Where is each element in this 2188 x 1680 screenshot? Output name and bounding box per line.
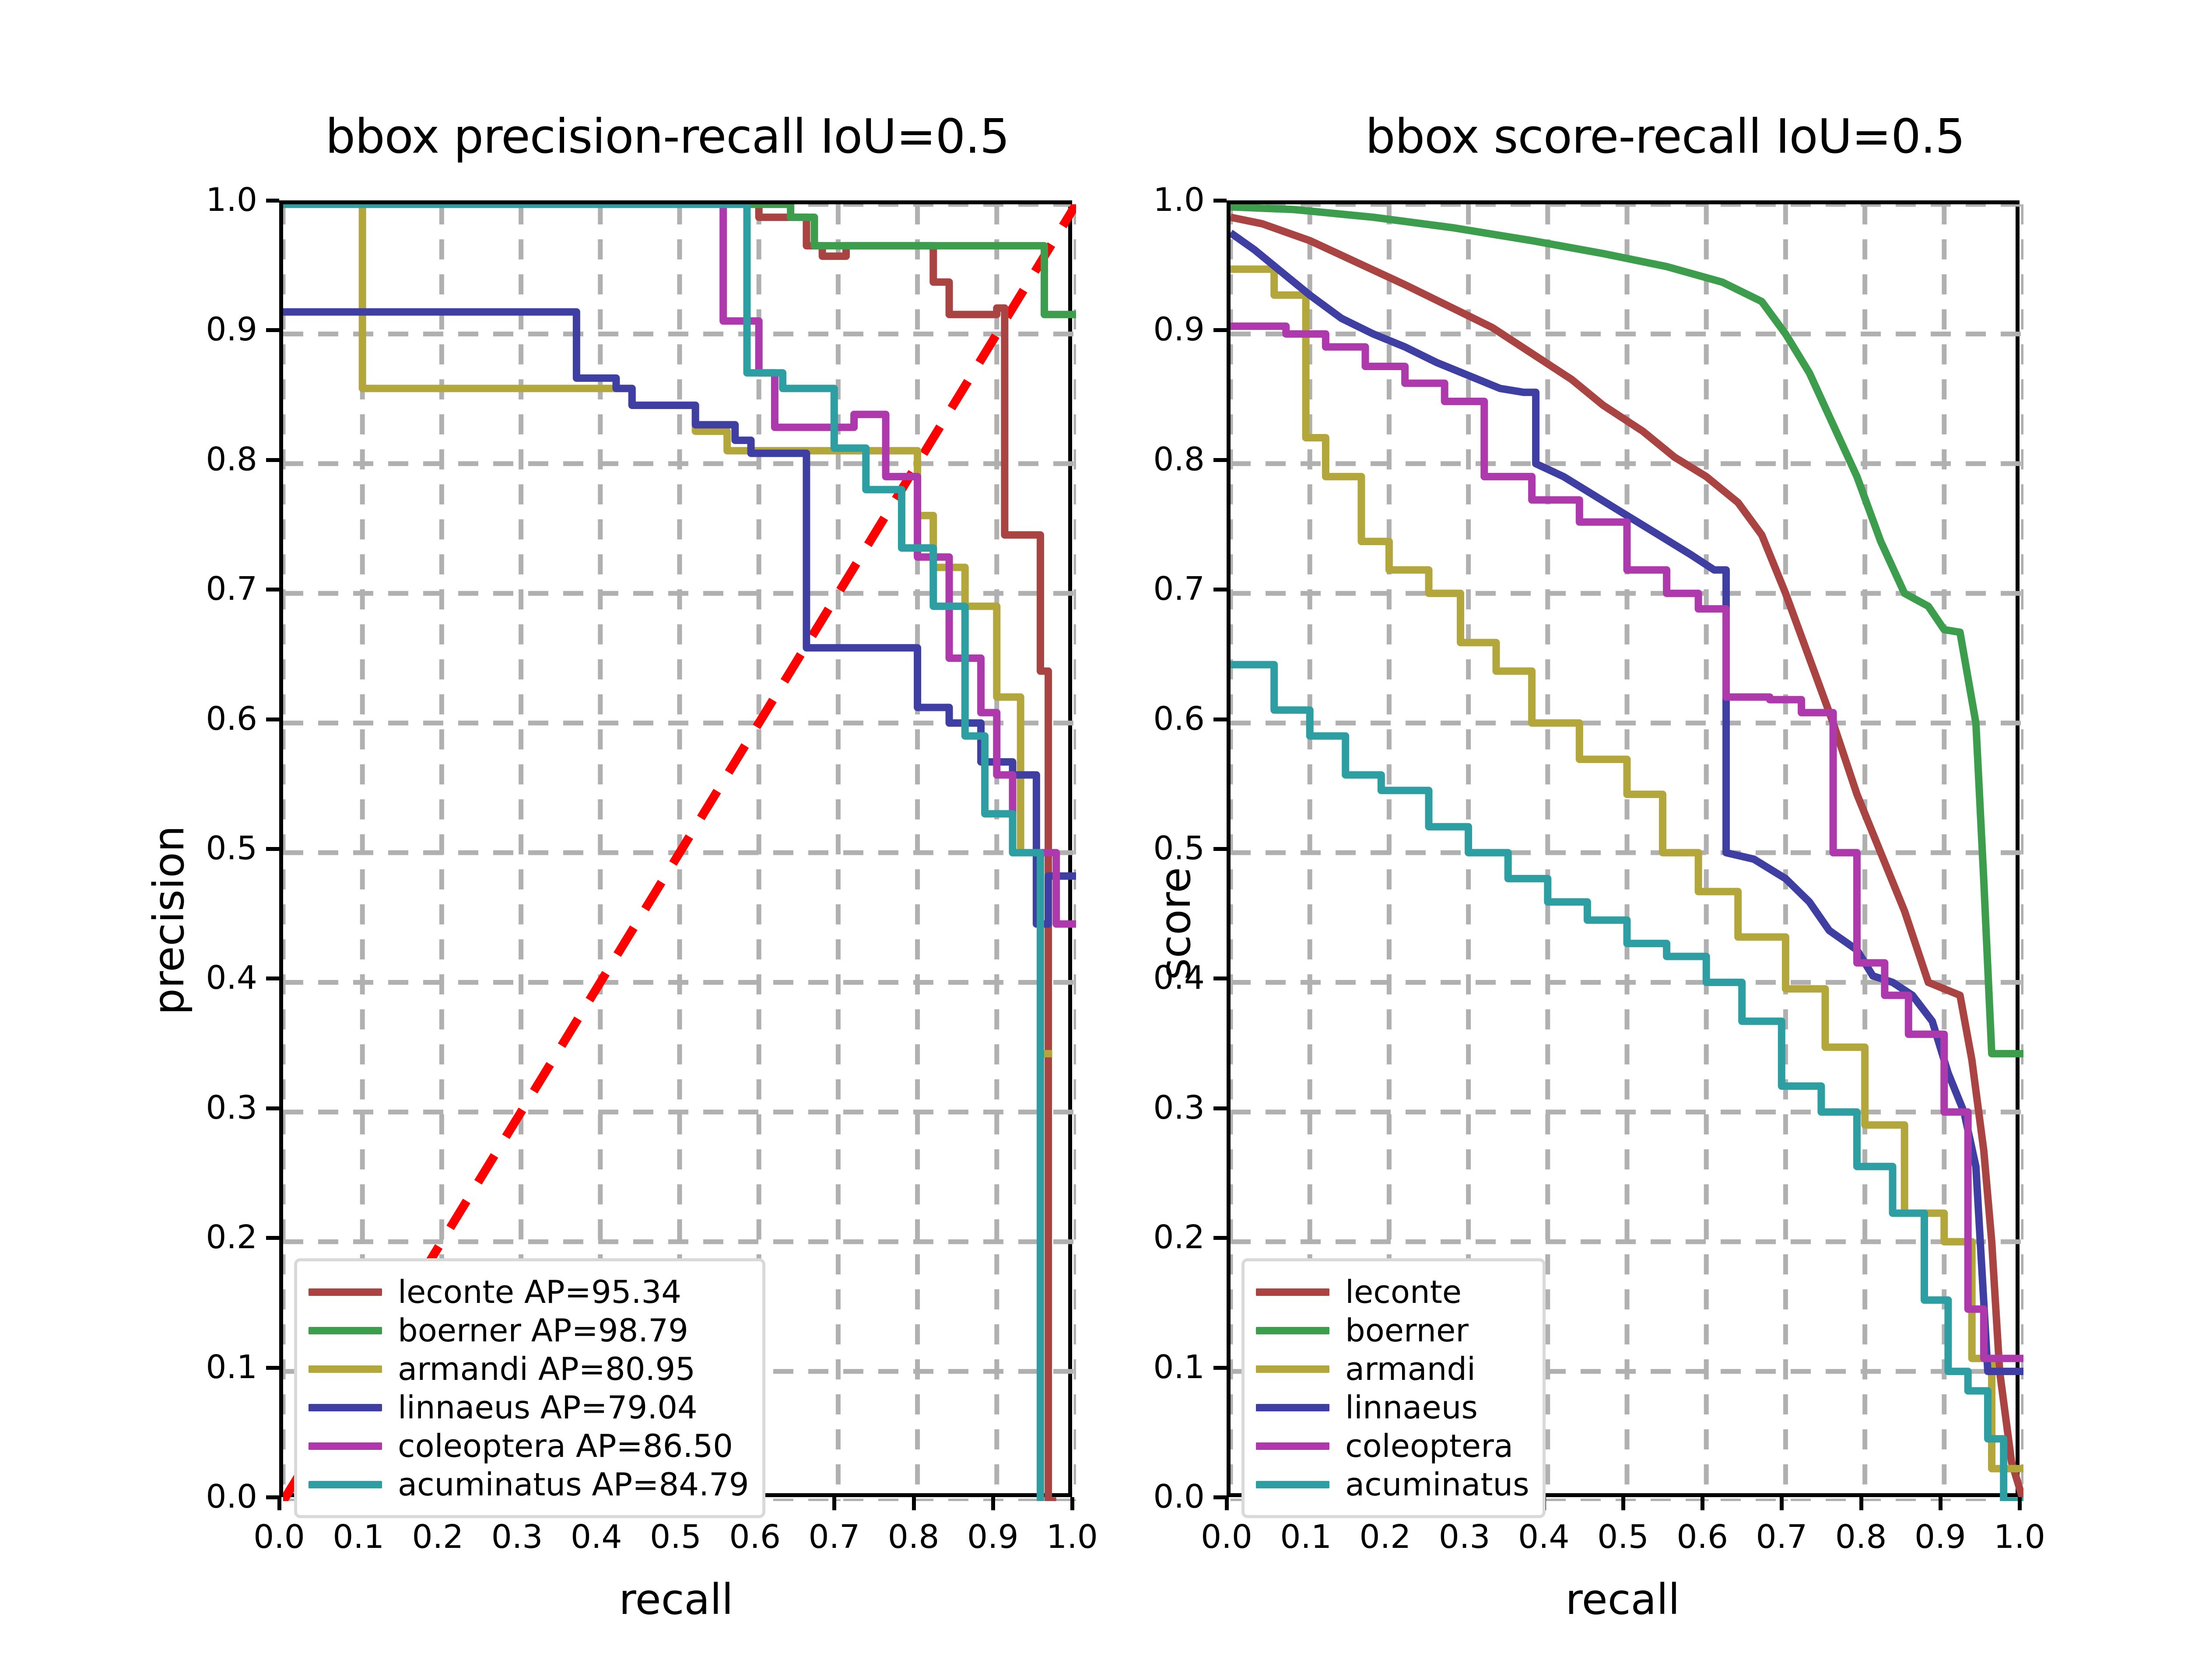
legend-item-label: linnaeus xyxy=(1345,1389,1478,1426)
legend-item-boerner[interactable]: boerner xyxy=(1256,1311,1529,1350)
y-tick-label: 0.0 xyxy=(1095,1478,1205,1515)
legend-item-label: armandi AP=80.95 xyxy=(398,1351,695,1387)
panel-right-title: bbox score-recall IoU=0.5 xyxy=(1243,109,2087,164)
y-tick-mark xyxy=(266,328,279,332)
y-tick-label: 0.0 xyxy=(148,1478,257,1515)
y-tick-mark xyxy=(266,1106,279,1110)
y-tick-mark xyxy=(266,1366,279,1370)
legend-color-swatch xyxy=(1256,1481,1329,1488)
x-tick-mark xyxy=(832,1497,836,1510)
legend-score-recall[interactable]: leconteboernerarmandilinnaeuscoleopteraa… xyxy=(1241,1258,1546,1518)
y-tick-mark xyxy=(1213,458,1227,462)
y-tick-label: 0.9 xyxy=(148,311,257,348)
y-tick-label: 0.5 xyxy=(148,829,257,867)
y-tick-mark xyxy=(266,588,279,591)
y-tick-label: 0.1 xyxy=(1095,1348,1205,1386)
legend-color-swatch xyxy=(309,1442,382,1450)
x-tick-mark xyxy=(1780,1497,1784,1510)
legend-precision-recall[interactable]: leconte AP=95.34boerner AP=98.79armandi … xyxy=(294,1258,765,1518)
panel-left-title: bbox precision-recall IoU=0.5 xyxy=(245,109,1090,164)
legend-color-swatch xyxy=(309,1288,382,1296)
legend-item-label: acuminatus AP=84.79 xyxy=(398,1466,749,1503)
y-tick-mark xyxy=(1213,199,1227,203)
legend-item-label: linnaeus AP=79.04 xyxy=(398,1389,698,1426)
x-tick-mark xyxy=(1701,1497,1704,1510)
panel-precision-recall: bbox precision-recall IoU=0.5 precision … xyxy=(0,0,1120,1680)
legend-item-label: armandi xyxy=(1345,1351,1476,1387)
legend-color-swatch xyxy=(1256,1442,1329,1450)
y-tick-mark xyxy=(1213,976,1227,980)
legend-item-coleoptera[interactable]: coleoptera xyxy=(1256,1427,1529,1465)
legend-item-linnaeus[interactable]: linnaeus xyxy=(1256,1388,1529,1427)
legend-item-label: coleoptera AP=86.50 xyxy=(398,1428,733,1464)
y-tick-label: 0.3 xyxy=(148,1089,257,1127)
legend-item-armandi[interactable]: armandi xyxy=(1256,1350,1529,1388)
y-tick-label: 0.4 xyxy=(148,959,257,997)
y-tick-mark xyxy=(1213,328,1227,332)
y-tick-mark xyxy=(266,847,279,851)
y-tick-mark xyxy=(266,1236,279,1240)
legend-item-label: leconte AP=95.34 xyxy=(398,1274,681,1310)
y-tick-mark xyxy=(1213,717,1227,721)
y-tick-label: 0.8 xyxy=(1095,441,1205,478)
x-tick-mark xyxy=(1939,1497,1943,1510)
panel-score-recall: bbox score-recall IoU=0.5 score recall 0… xyxy=(1120,0,2188,1680)
legend-color-swatch xyxy=(1256,1288,1329,1296)
x-tick-mark xyxy=(1621,1497,1625,1510)
y-tick-label: 0.1 xyxy=(148,1348,257,1386)
panel-left-xlabel: recall xyxy=(280,1575,1072,1624)
legend-color-swatch xyxy=(1256,1404,1329,1411)
y-tick-label: 0.6 xyxy=(1095,700,1205,738)
x-tick-mark xyxy=(2018,1497,2022,1510)
legend-item-boerner[interactable]: boerner AP=98.79 xyxy=(309,1311,749,1350)
y-tick-label: 0.2 xyxy=(1095,1218,1205,1256)
y-tick-label: 0.7 xyxy=(1095,570,1205,608)
legend-item-leconte[interactable]: leconte xyxy=(1256,1273,1529,1311)
figure-canvas: bbox precision-recall IoU=0.5 precision … xyxy=(0,0,2188,1680)
y-tick-mark xyxy=(266,717,279,721)
y-tick-label: 0.9 xyxy=(1095,311,1205,348)
y-tick-mark xyxy=(266,199,279,203)
y-tick-label: 1.0 xyxy=(148,181,257,219)
legend-item-label: boerner xyxy=(1345,1312,1469,1349)
legend-color-swatch xyxy=(309,1404,382,1411)
legend-item-acuminatus[interactable]: acuminatus xyxy=(1256,1465,1529,1504)
legend-color-swatch xyxy=(309,1327,382,1334)
x-tick-mark xyxy=(1859,1497,1863,1510)
legend-color-swatch xyxy=(309,1481,382,1488)
y-tick-mark xyxy=(1213,1366,1227,1370)
x-tick-label: 1.0 xyxy=(1024,1518,1120,1556)
y-tick-label: 0.5 xyxy=(1095,829,1205,867)
y-tick-label: 0.4 xyxy=(1095,959,1205,997)
y-tick-mark xyxy=(1213,847,1227,851)
y-tick-mark xyxy=(266,976,279,980)
legend-item-leconte[interactable]: leconte AP=95.34 xyxy=(309,1273,749,1311)
y-tick-label: 0.8 xyxy=(148,441,257,478)
legend-item-label: leconte xyxy=(1345,1274,1462,1310)
y-tick-label: 0.6 xyxy=(148,700,257,738)
x-tick-label: 1.0 xyxy=(1971,1518,2068,1556)
y-tick-mark xyxy=(1213,588,1227,591)
legend-item-acuminatus[interactable]: acuminatus AP=84.79 xyxy=(309,1465,749,1504)
legend-item-coleoptera[interactable]: coleoptera AP=86.50 xyxy=(309,1427,749,1465)
y-tick-label: 0.3 xyxy=(1095,1089,1205,1127)
y-tick-mark xyxy=(1213,1495,1227,1499)
y-tick-mark xyxy=(1213,1236,1227,1240)
legend-item-label: acuminatus xyxy=(1345,1466,1529,1503)
y-tick-mark xyxy=(266,458,279,462)
legend-item-label: boerner AP=98.79 xyxy=(398,1312,688,1349)
y-tick-label: 0.2 xyxy=(148,1218,257,1256)
legend-item-linnaeus[interactable]: linnaeus AP=79.04 xyxy=(309,1388,749,1427)
legend-item-armandi[interactable]: armandi AP=80.95 xyxy=(309,1350,749,1388)
y-tick-mark xyxy=(1213,1106,1227,1110)
y-tick-label: 0.7 xyxy=(148,570,257,608)
y-tick-label: 1.0 xyxy=(1095,181,1205,219)
legend-item-label: coleoptera xyxy=(1345,1428,1513,1464)
legend-color-swatch xyxy=(1256,1327,1329,1334)
x-tick-mark xyxy=(991,1497,995,1510)
y-tick-mark xyxy=(266,1495,279,1499)
x-tick-mark xyxy=(1070,1497,1074,1510)
panel-right-xlabel: recall xyxy=(1227,1575,2019,1624)
legend-color-swatch xyxy=(309,1365,382,1373)
x-tick-mark xyxy=(912,1497,916,1510)
legend-color-swatch xyxy=(1256,1365,1329,1373)
